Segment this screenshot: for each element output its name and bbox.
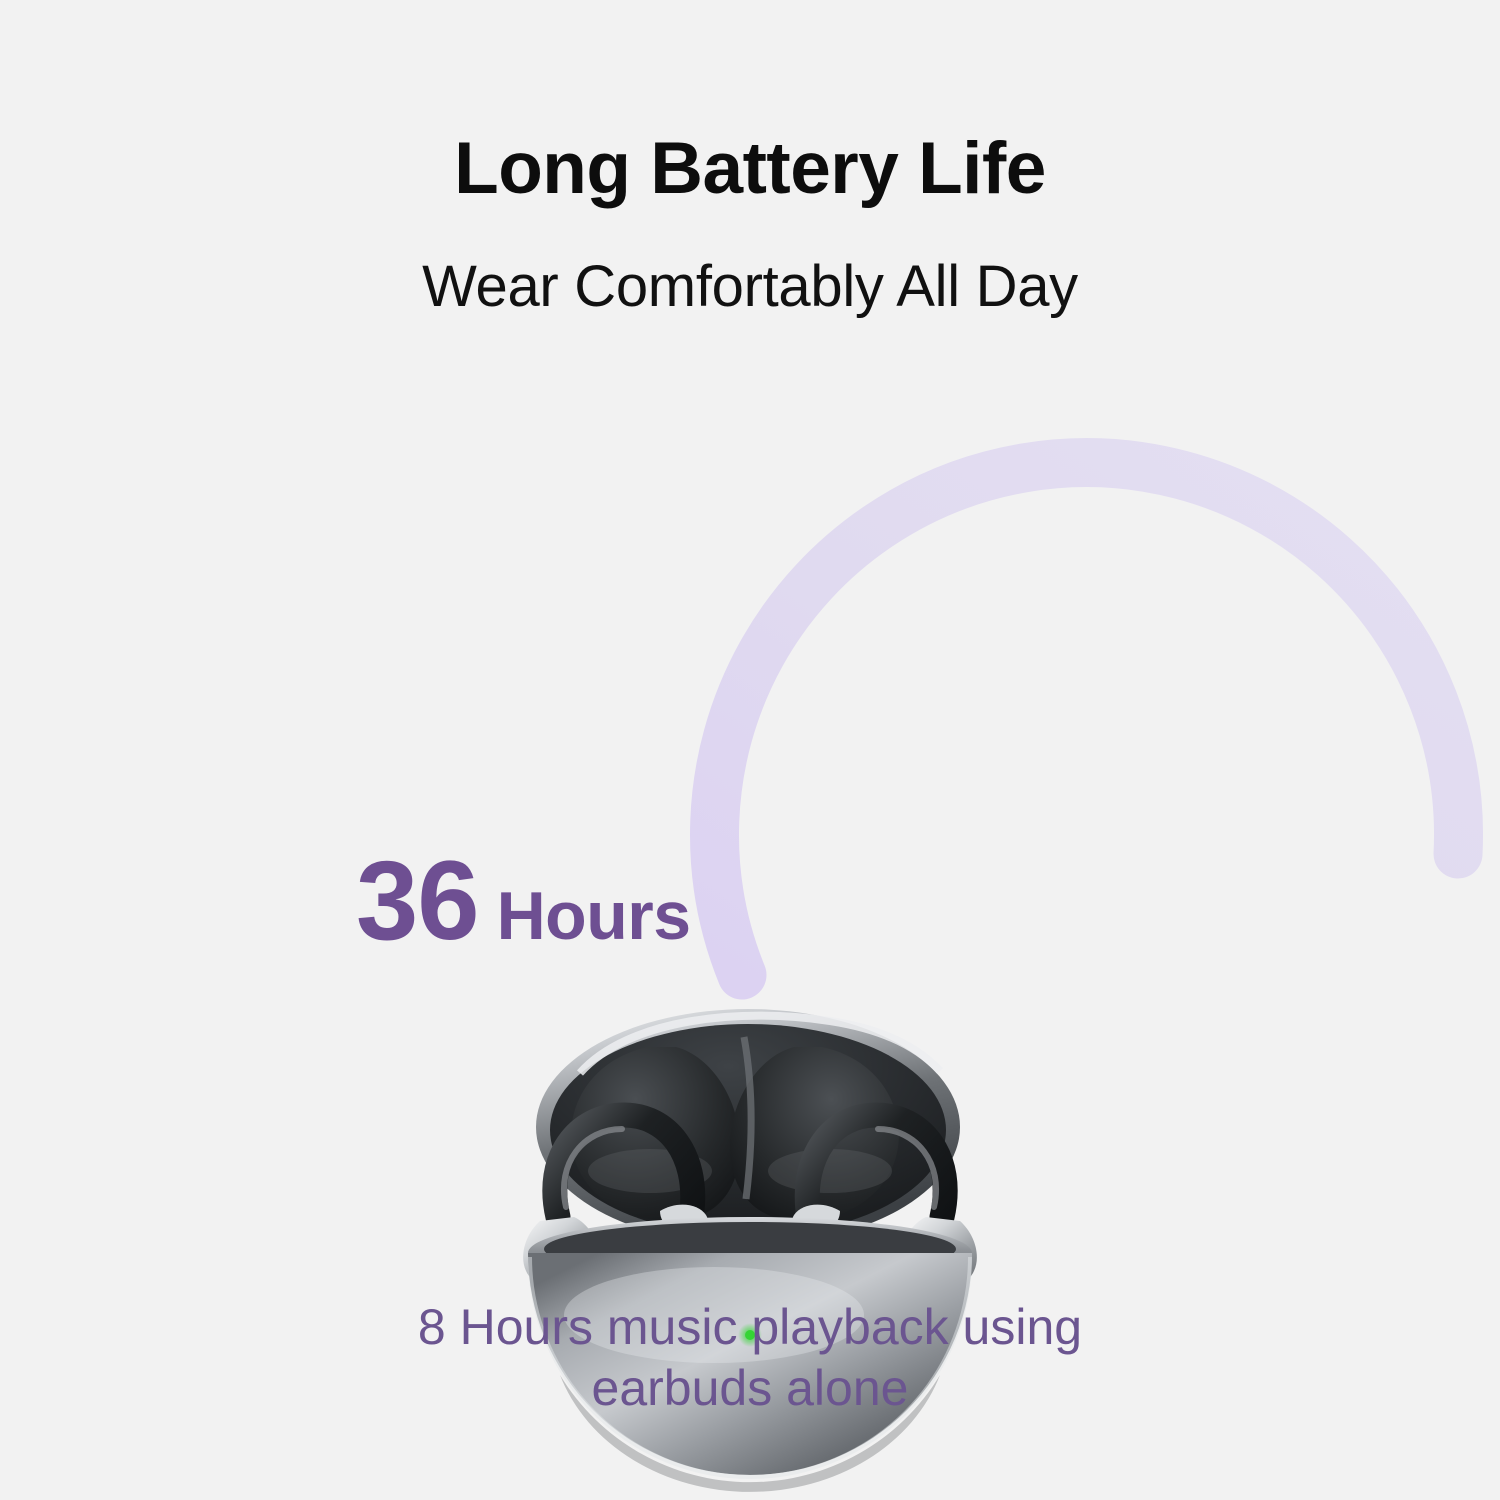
battery-hours-value: 36 [356,845,479,957]
caption-line-1: 8 Hours music playback using [250,1297,1250,1358]
battery-ring-graphic: 36 Hours [0,390,1500,1270]
playback-caption: 8 Hours music playback using earbuds alo… [250,1297,1250,1419]
earbuds-charging-case-icon [500,985,1000,1500]
battery-duration-label: 36 Hours [356,845,691,957]
battery-life-promo-poster: Long Battery Life Wear Comfortably All D… [0,0,1500,1500]
earbuds-case-image [500,985,1000,1500]
page-title: Long Battery Life [0,132,1500,205]
page-subtitle: Wear Comfortably All Day [0,258,1500,316]
battery-hours-unit: Hours [497,882,691,950]
caption-line-2: earbuds alone [250,1358,1250,1419]
